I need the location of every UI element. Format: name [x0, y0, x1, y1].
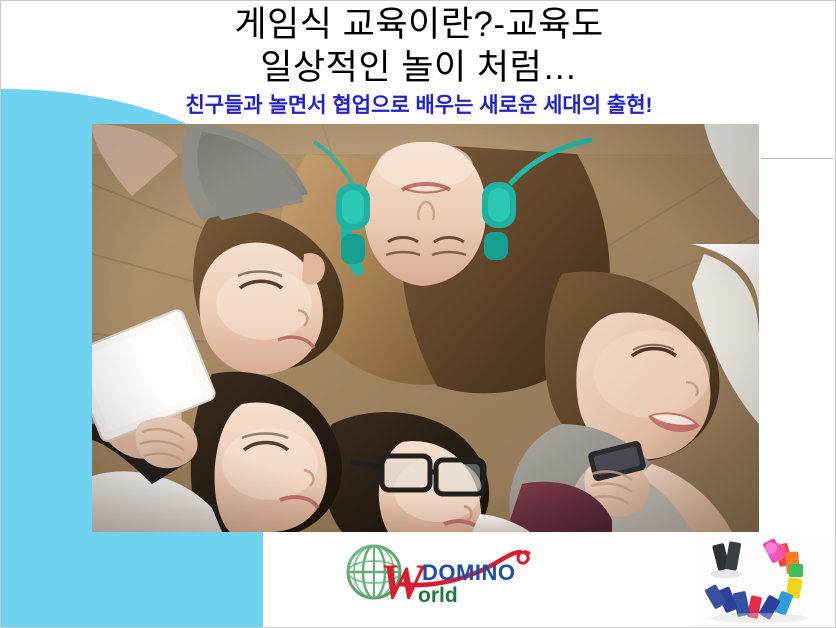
- divider-line: [761, 158, 833, 159]
- domino-world-logo: W DOMINO orld: [338, 540, 538, 612]
- slide-subtitle: 친구들과 놀면서 협업으로 배우는 새로운 세대의 출현!: [1, 93, 836, 118]
- footer-strip: W DOMINO orld: [263, 532, 836, 628]
- title-line-2: 일상적인 놀이 처럼…: [1, 46, 836, 89]
- slide-title: 게임식 교육이란?-교육도 일상적인 놀이 처럼…: [1, 3, 836, 89]
- presentation-slide: 게임식 교육이란?-교육도 일상적인 놀이 처럼… 친구들과 놀면서 협업으로 …: [0, 0, 836, 628]
- logo-orld-text: orld: [418, 584, 458, 607]
- logo-domino-text: DOMINO: [422, 560, 515, 585]
- colored-dominoes-photo: [693, 534, 833, 626]
- title-line-1: 게임식 교육이란?-교육도: [1, 3, 836, 46]
- group-of-children-with-devices-photo: [92, 124, 759, 532]
